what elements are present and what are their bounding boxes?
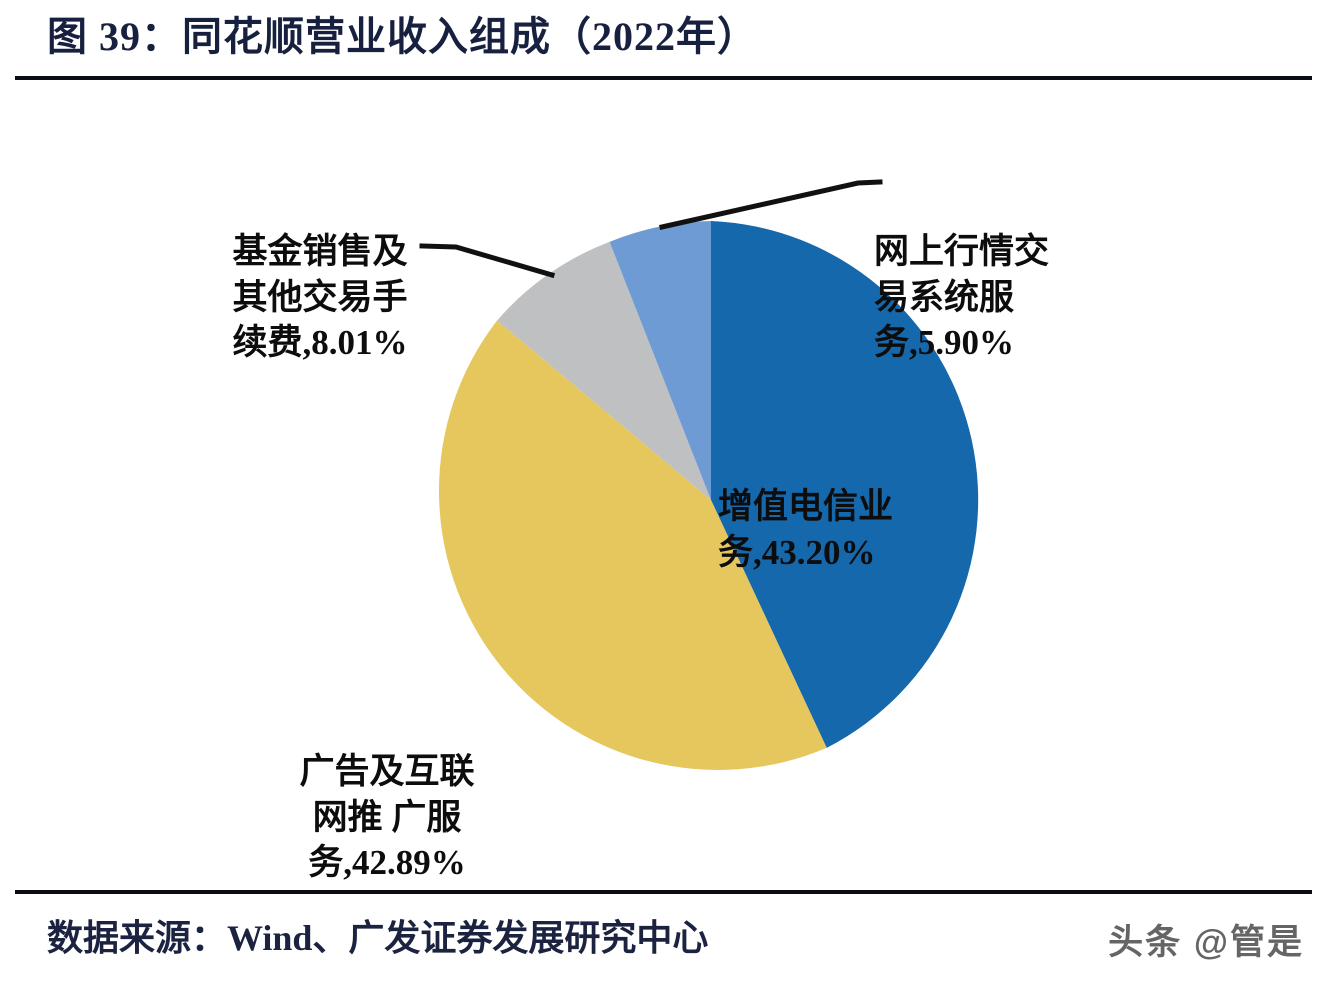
source-note: 数据来源：Wind、广发证券发展研究中心 — [47, 905, 708, 971]
figure-container: 图 39：同花顺营业收入组成（2022年） 网上行情交 易系统服 务,5.90%… — [0, 0, 1330, 994]
pie-label-value-added: 增值电信业 务,43.20% — [718, 484, 968, 575]
leader-line-online-market — [662, 182, 880, 227]
page-title: 图 39：同花顺营业收入组成（2022年） — [47, 6, 1297, 68]
pie-chart-svg — [0, 84, 1330, 884]
pie-label-online-market: 网上行情交 易系统服 务,5.90% — [874, 229, 1134, 366]
pie-label-fund-sales: 基金销售及 其他交易手 续费,8.01% — [190, 229, 450, 366]
pie-label-advertising: 广告及互联 网推 广服 务,42.89% — [262, 749, 512, 886]
watermark-label: 头条 @管是 — [1108, 918, 1304, 968]
title-divider-rule — [15, 76, 1312, 80]
pie-chart-plot-area: 网上行情交 易系统服 务,5.90% 基金销售及 其他交易手 续费,8.01% … — [0, 84, 1330, 884]
source-divider-rule — [15, 890, 1312, 894]
